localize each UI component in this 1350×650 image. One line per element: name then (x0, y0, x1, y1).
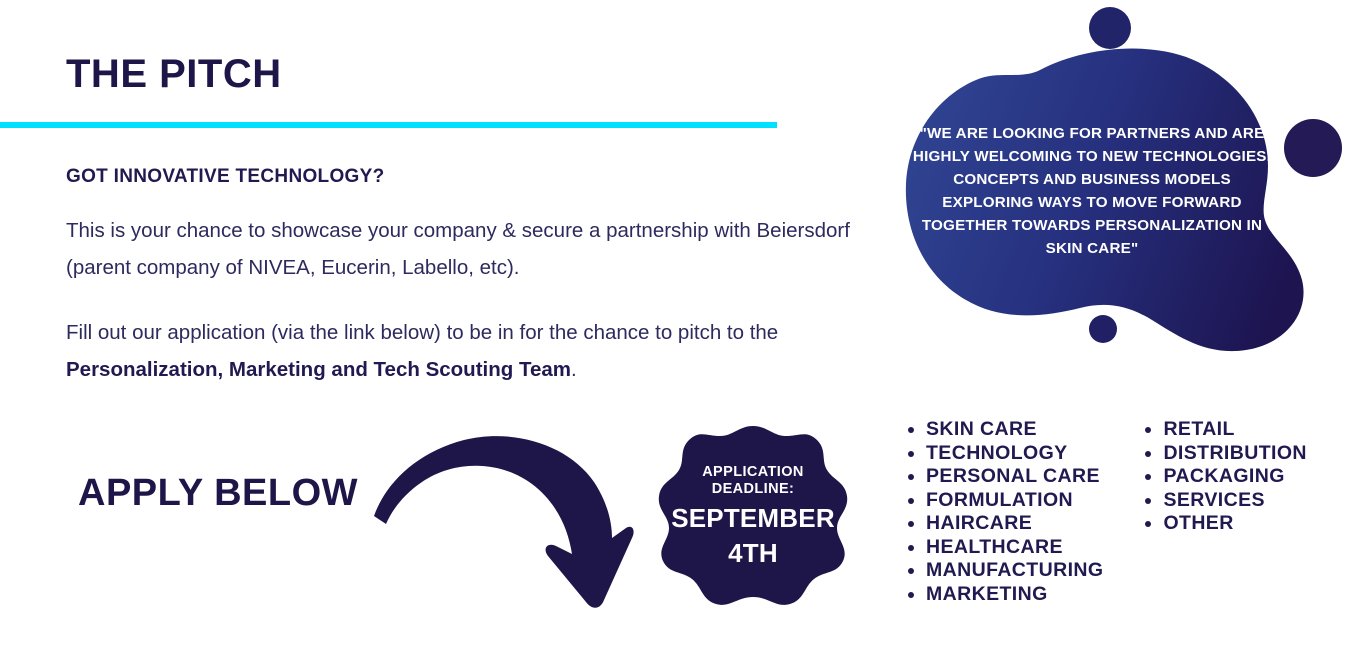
body-paragraph-2: Fill out our application (via the link b… (66, 314, 881, 388)
body-copy: This is your chance to showcase your com… (66, 212, 881, 388)
body-paragraph-2-lead: Fill out our application (via the link b… (66, 321, 778, 344)
category-list-item: FORMULATION (906, 489, 1103, 513)
category-list-item: OTHER (1143, 512, 1306, 536)
category-list-item: SKIN CARE (906, 418, 1103, 442)
accent-divider (0, 122, 777, 128)
partner-quote: "WE ARE LOOKING FOR PARTNERS AND ARE HIG… (908, 122, 1276, 260)
page-title: THE PITCH (66, 52, 282, 96)
category-list-item: PERSONAL CARE (906, 465, 1103, 489)
category-lists: SKIN CARETECHNOLOGYPERSONAL CAREFORMULAT… (906, 418, 1350, 606)
category-list-item: HEALTHCARE (906, 536, 1103, 560)
category-list-item: PACKAGING (1143, 465, 1306, 489)
deadline-seal-badge: APPLICATION DEADLINE: SEPTEMBER 4TH (655, 424, 851, 608)
body-paragraph-1: This is your chance to showcase your com… (66, 212, 881, 286)
category-column-left: SKIN CARETECHNOLOGYPERSONAL CAREFORMULAT… (906, 418, 1103, 606)
blob-satellite-circle-bottom (1089, 315, 1117, 343)
category-list-item: RETAIL (1143, 418, 1306, 442)
category-list-item: MARKETING (906, 583, 1103, 607)
section-subheading: GOT INNOVATIVE TECHNOLOGY? (66, 166, 385, 188)
blob-satellite-circle-top (1089, 7, 1131, 49)
curved-down-arrow-icon (360, 420, 640, 620)
category-list-item: TECHNOLOGY (906, 442, 1103, 466)
pitch-slide: THE PITCH GOT INNOVATIVE TECHNOLOGY? Thi… (0, 0, 1350, 650)
apply-below-label: APPLY BELOW (78, 472, 358, 515)
team-name-emphasis: Personalization, Marketing and Tech Scou… (66, 358, 571, 381)
category-column-right: RETAILDISTRIBUTIONPACKAGINGSERVICESOTHER (1143, 418, 1306, 606)
category-list-item: HAIRCARE (906, 512, 1103, 536)
category-list-item: DISTRIBUTION (1143, 442, 1306, 466)
blob-satellite-circle-right (1284, 119, 1342, 177)
category-list-item: MANUFACTURING (906, 559, 1103, 583)
body-paragraph-2-tail: . (571, 358, 577, 381)
category-list-item: SERVICES (1143, 489, 1306, 513)
